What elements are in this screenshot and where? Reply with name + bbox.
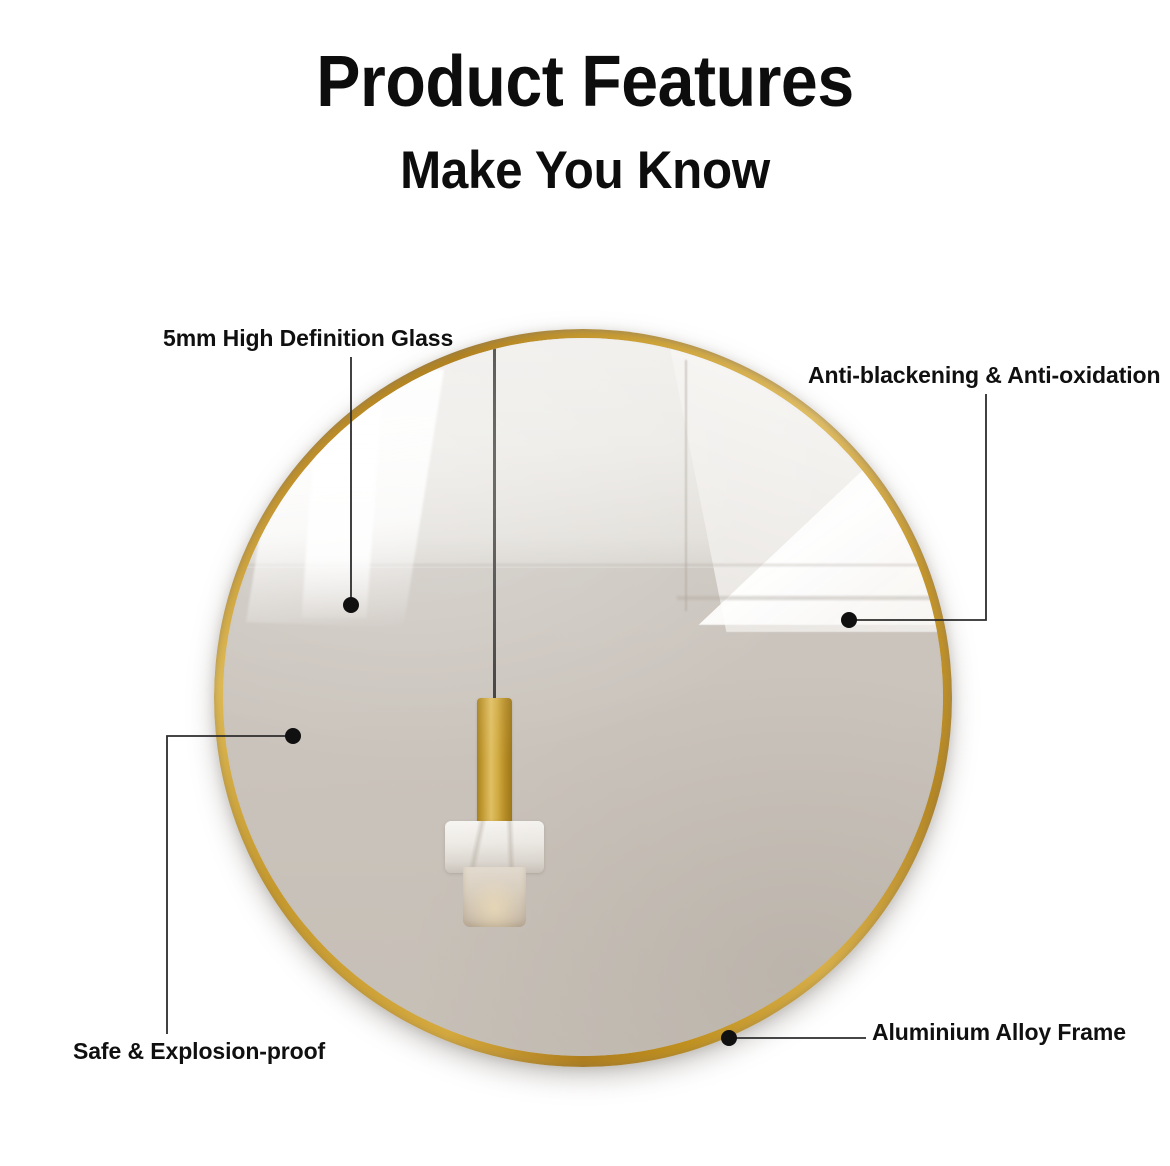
- page-subtitle: Make You Know: [41, 122, 1129, 200]
- infographic-canvas: Product Features Make You Know: [0, 0, 1170, 1166]
- heading-block: Product Features Make You Know: [0, 0, 1170, 200]
- reflection-sheen: [223, 338, 943, 1056]
- product-mirror: [214, 329, 952, 1067]
- callout-label-safe-explosion-proof: Safe & Explosion-proof: [73, 1038, 325, 1065]
- callout-label-aluminium-alloy-frame: Aluminium Alloy Frame: [872, 1019, 1126, 1046]
- page-title: Product Features: [47, 0, 1123, 122]
- mirror-glass-surface: [223, 338, 943, 1056]
- mirror-aluminium-frame: [214, 329, 952, 1067]
- callout-label-glass: 5mm High Definition Glass: [163, 325, 453, 352]
- callout-label-anti-blackening: Anti-blackening & Anti-oxidation: [808, 362, 1160, 389]
